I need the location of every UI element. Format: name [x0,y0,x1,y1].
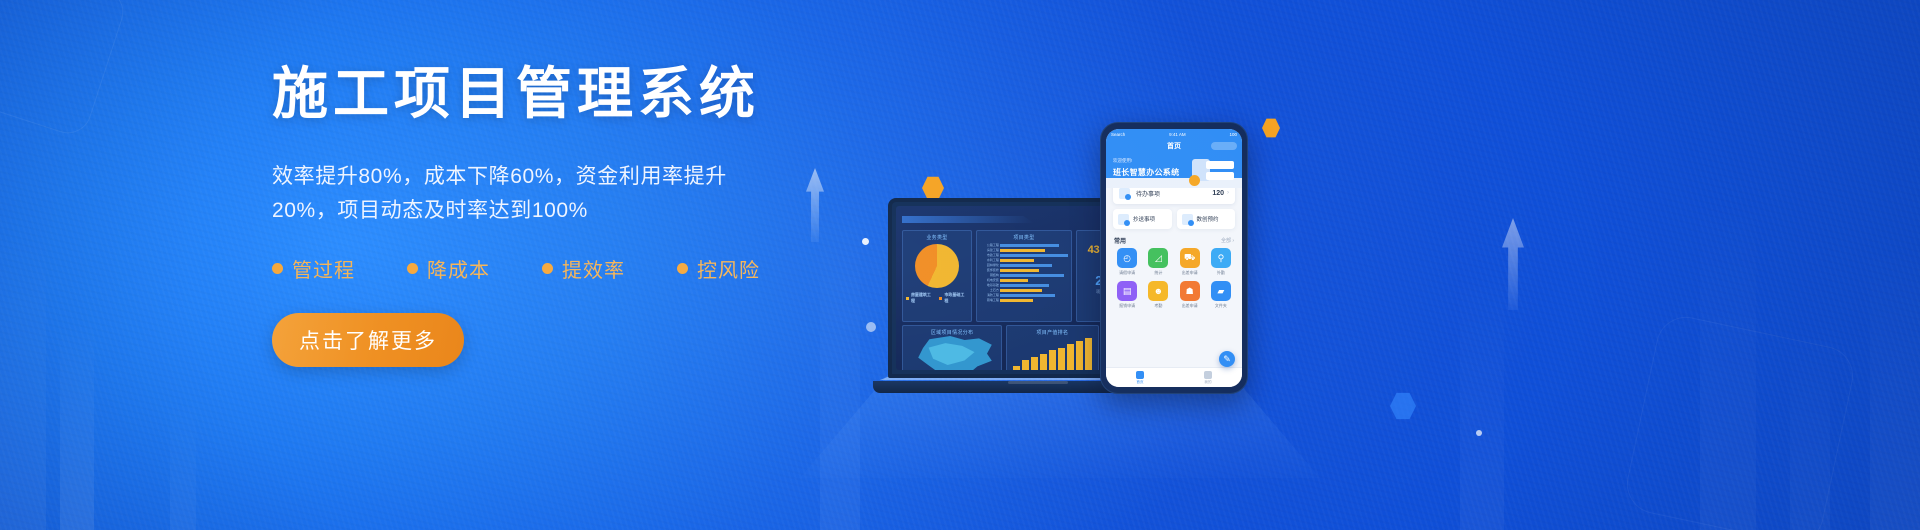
light-bar [170,400,196,530]
bar-row: 房建工程 [1000,248,1068,252]
quick-label: 数创预约 [1197,215,1219,223]
light-bar [1700,190,1756,530]
phone-nav-bar: 首页 [1106,139,1242,153]
pie-legend-item: 房屋建筑工程 [906,292,934,304]
illus-shape [1206,172,1234,180]
pie-chart-panel: 业务类型 房屋建筑工程 市政基础工程 [902,230,972,322]
app-grid-item[interactable]: ⚲外勤 [1207,248,1235,276]
tab-profile[interactable]: 我的 [1204,371,1212,385]
bullet-dot-icon [272,263,283,274]
phone-tab-bar: 首页 我的 [1106,367,1242,387]
bar-label: 地基基础 [980,283,999,287]
vbar [1040,354,1047,370]
feature-bullet-2: 提效率 [542,254,625,283]
person-icon [1204,371,1212,379]
light-bar [60,320,94,530]
bar-row: 水利工程 [1000,258,1068,262]
phone-mockup: Search 9:41 AM 100 首页 欢迎使用! 班长智慧办公系统 [1100,122,1248,394]
legend-swatch [906,297,909,300]
bar-label: 房建工程 [980,248,999,252]
vertical-bar-panel: 项目产值排名 [1006,325,1098,370]
feature-bullets: 管过程 降成本 提效率 控风险 [272,254,832,283]
bar-label: 水利工程 [980,258,999,262]
status-carrier: Search [1111,132,1125,137]
app-label: 出差申请 [1182,270,1198,276]
light-bar [0,230,46,530]
feature-bullet-1: 降成本 [407,254,490,283]
bar-chart-panel: 项目类型 公路工程房建工程市政工程水利工程园林绿化装饰装修钢结构机电安装地基基础… [976,230,1072,322]
vbar [1049,350,1056,370]
tab-home[interactable]: 首页 [1136,371,1144,385]
bar-fill [1000,249,1045,252]
bar-label: 装饰装修 [980,268,999,272]
legend-label: 房屋建筑工程 [911,292,935,304]
app-label: 出差申请 [1182,303,1198,309]
vbar [1022,360,1029,370]
quick-action-card[interactable]: 抄送事项 [1113,209,1172,229]
app-grid-item[interactable]: ▤报销申请 [1113,281,1141,309]
bar-row: 机电安装 [1000,278,1068,282]
legend-swatch [939,297,942,300]
bar-fill [1000,274,1064,277]
illus-shape [1206,161,1234,169]
app-grid-item[interactable]: ☗出差申请 [1176,281,1204,309]
feature-bullet-0: 管过程 [272,254,355,283]
bar-fill [1000,294,1055,297]
bar-row: 地基基础 [1000,283,1068,287]
bar-label: 公路工程 [980,243,999,247]
bar-row: 幕墙工程 [1000,298,1068,302]
feature-bullet-3: 控风险 [677,254,760,283]
status-time: 9:41 AM [1169,132,1186,137]
bullet-dot-icon [542,263,553,274]
bar-label: 园林绿化 [980,263,999,267]
app-icon: ☗ [1180,281,1200,301]
pie-legend: 房屋建筑工程 市政基础工程 [906,292,968,304]
section-header: 常用 全部 › [1114,236,1234,245]
bar-row: 公路工程 [1000,243,1068,247]
bar-label: 幕墙工程 [980,298,999,302]
map-panel: 区域项目情况分布 [902,325,1002,370]
vbar [1031,357,1038,370]
booking-icon [1182,214,1193,225]
app-label: 外勤 [1217,270,1225,276]
home-icon [1136,371,1144,379]
bar-row: 消防工程 [1000,293,1068,297]
app-icon: ⚲ [1211,248,1231,268]
vertical-bar-chart [1010,338,1094,370]
sparkle-dot [1476,430,1482,436]
quick-action-row: 抄送事项 数创预约 [1113,209,1235,229]
hex-outline [1621,311,1858,530]
tab-label: 首页 [1136,380,1143,385]
hero-subtitle: 效率提升80%，成本下降60%，资金利用率提升20%，项目动态及时率达到100% [272,160,792,228]
vbar [1067,344,1074,370]
nav-title: 首页 [1167,141,1181,151]
app-label: 考勤 [1154,303,1162,309]
app-label: 报销申请 [1119,303,1135,309]
page-title: 施工项目管理系统 [272,62,832,126]
bar-fill [1000,279,1028,282]
capsule-menu-icon[interactable] [1211,142,1237,150]
app-icon: ☻ [1148,281,1168,301]
phone-screen: Search 9:41 AM 100 首页 欢迎使用! 班长智慧办公系统 [1106,129,1242,387]
vbar [1076,341,1083,370]
bar-row: 园林绿化 [1000,263,1068,267]
phone-status-bar: Search 9:41 AM 100 [1106,129,1242,139]
pie-legend-item: 市政基础工程 [939,292,967,304]
bar-row: 装饰装修 [1000,268,1068,272]
app-grid-item[interactable]: ▰文件夹 [1207,281,1235,309]
vbar [1058,348,1065,370]
light-bar [1870,240,1920,530]
phone-hero: 欢迎使用! 班长智慧办公系统 [1106,153,1242,188]
feature-label: 管过程 [292,254,355,283]
promo-banner: 施工项目管理系统 效率提升80%，成本下降60%，资金利用率提升20%，项目动态… [0,0,1920,530]
app-icon: ◴ [1117,248,1137,268]
bar-fill [1000,299,1033,302]
light-bar [1460,270,1504,530]
learn-more-button[interactable]: 点击了解更多 [272,313,464,367]
arrow-up-icon [1502,218,1524,310]
todo-icon [1119,188,1130,199]
tab-label: 我的 [1204,380,1211,385]
quick-action-card[interactable]: 数创预约 [1177,209,1236,229]
bar-fill [1000,259,1034,262]
app-icon: ▰ [1211,281,1231,301]
header-ribbon [902,216,1034,223]
feature-label: 提效率 [562,254,625,283]
vbar [1085,338,1092,370]
app-icon: ▤ [1117,281,1137,301]
legend-label: 市政基础工程 [944,292,968,304]
bar-row: 钢结构 [1000,273,1068,277]
vbar-panel-title: 项目产值排名 [1010,329,1094,336]
horizontal-bar-chart: 公路工程房建工程市政工程水利工程园林绿化装饰装修钢结构机电安装地基基础土石方消防… [980,243,1068,302]
app-label: 请假申请 [1119,270,1135,276]
bar-fill [1000,254,1068,257]
todo-label: 待办事项 [1136,189,1212,198]
bar-row: 市政工程 [1000,253,1068,257]
bar-fill [1000,244,1059,247]
app-grid-item[interactable]: ⛟出差申请 [1176,248,1204,276]
illus-badge-icon [1189,175,1200,186]
bullet-dot-icon [407,263,418,274]
vbar [1013,366,1020,370]
todo-count: 120 [1212,190,1224,197]
compose-fab-icon[interactable]: ✎ [1219,351,1235,367]
hero-illustration [1192,157,1236,185]
chevron-right-icon: › [1227,190,1229,196]
bar-row: 土石方 [1000,288,1068,292]
feature-label: 控风险 [697,254,760,283]
app-grid-item[interactable]: ☻考勤 [1144,281,1172,309]
light-bar [1790,330,1830,530]
bar-fill [1000,284,1049,287]
bar-label: 消防工程 [980,293,999,297]
pie-panel-title: 业务类型 [906,234,968,241]
app-grid: ◴请假申请◿统计⛟出差申请⚲外勤▤报销申请☻考勤☗出差申请▰文件夹 [1113,248,1235,309]
app-icon: ◿ [1148,248,1168,268]
bar-panel-title: 项目类型 [980,234,1068,241]
app-label: 统计 [1154,270,1162,276]
map-panel-title: 区域项目情况分布 [906,329,998,336]
app-icon: ⛟ [1180,248,1200,268]
hex-outline [0,0,130,140]
cc-icon [1118,214,1129,225]
app-label: 文件夹 [1215,303,1227,309]
app-grid-item[interactable]: ◿统计 [1144,248,1172,276]
bar-label: 市政工程 [980,253,999,257]
bar-label: 机电安装 [980,278,999,282]
bar-fill [1000,269,1039,272]
device-mockup-group: 市场管理报表 业务类型 房屋建筑工程 市政基础工程 项目类型 [800,100,1360,520]
bar-label: 钢结构 [980,273,999,277]
bar-fill [1000,289,1042,292]
status-battery: 100 [1229,132,1237,137]
hex-decoration-blue [1390,392,1416,420]
bar-label: 土石方 [980,288,999,292]
section-more-link[interactable]: 全部 › [1221,237,1234,244]
quick-label: 抄送事项 [1133,215,1155,223]
pie-chart [915,244,959,288]
bar-fill [1000,264,1052,267]
hero-copy: 施工项目管理系统 效率提升80%，成本下降60%，资金利用率提升20%，项目动态… [272,62,832,367]
section-title: 常用 [1114,236,1126,245]
bullet-dot-icon [677,263,688,274]
feature-label: 降成本 [427,254,490,283]
app-grid-item[interactable]: ◴请假申请 [1113,248,1141,276]
